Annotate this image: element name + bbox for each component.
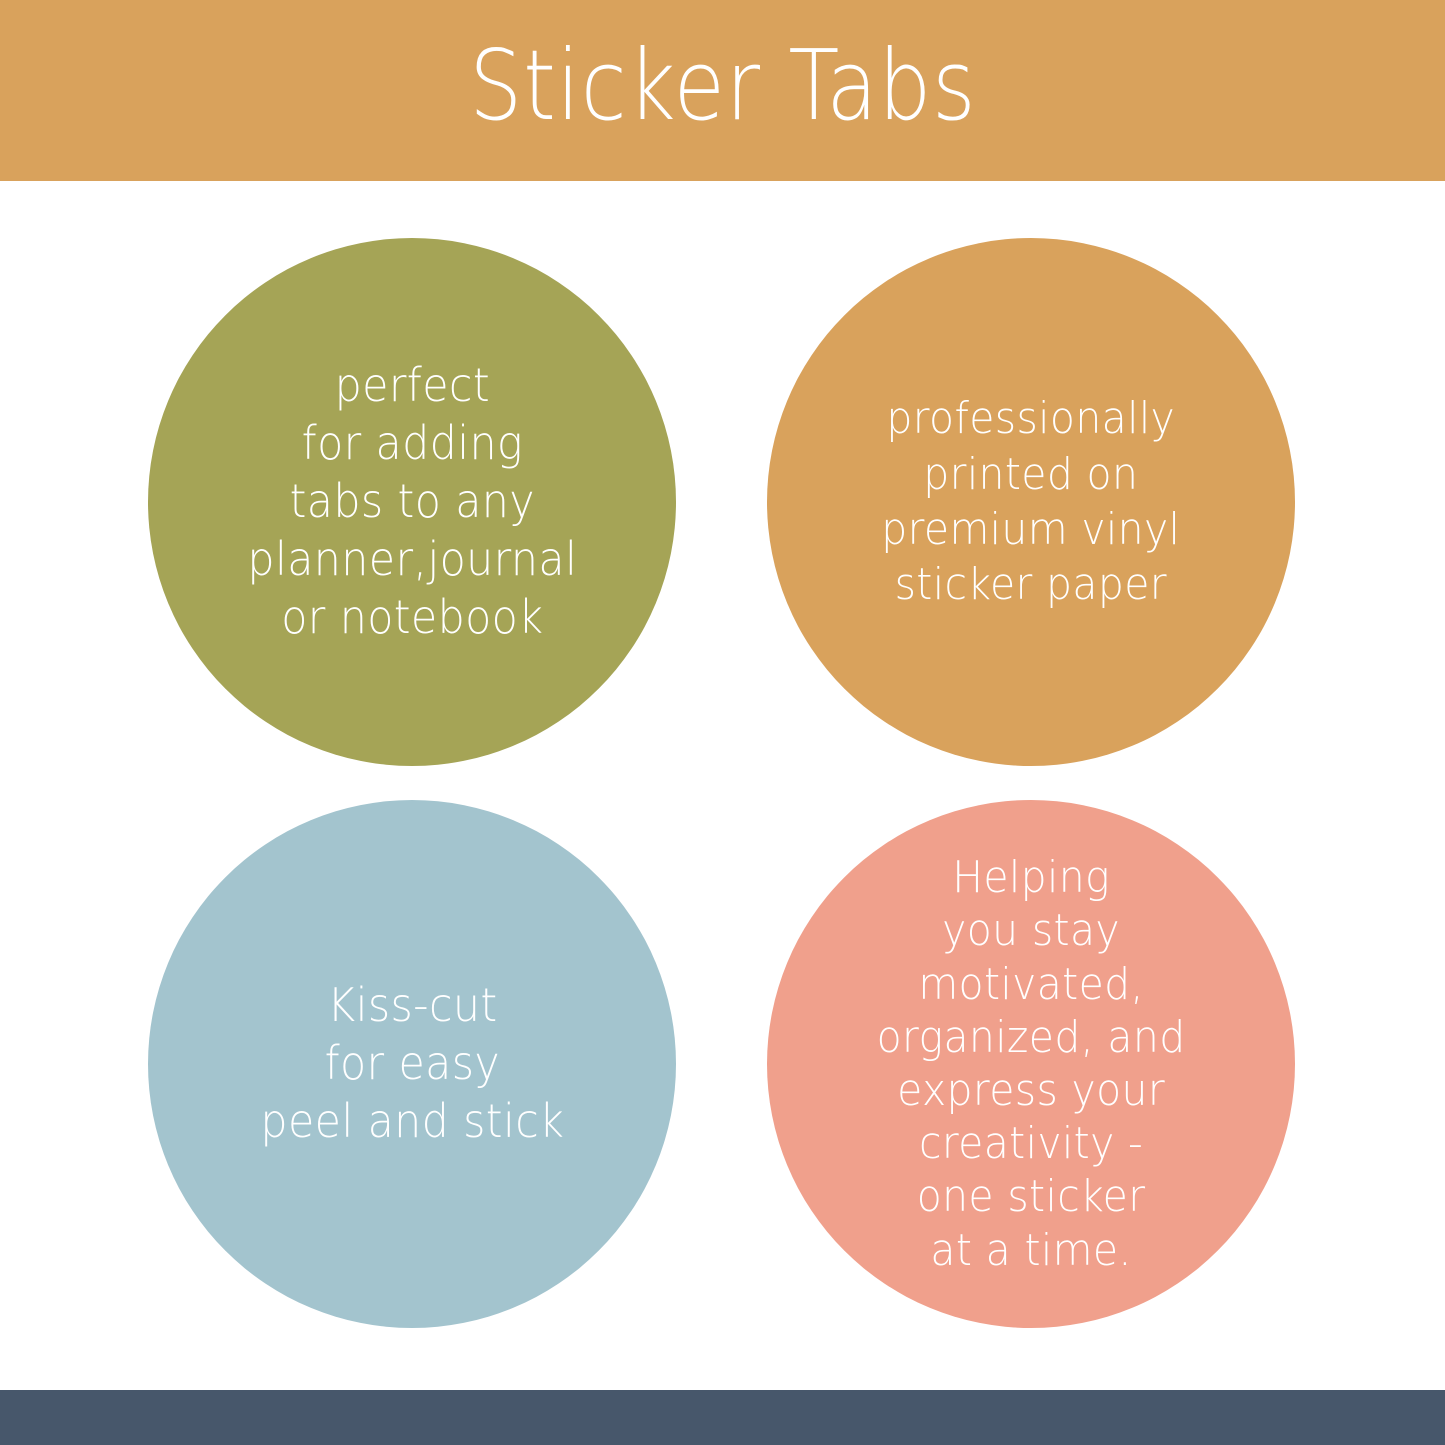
- page-title: Sticker Tabs: [469, 37, 976, 144]
- footer-bar: [0, 1390, 1445, 1445]
- feature-circle-helping-you-stay-motivated: Helping you stay motivated, organized, a…: [767, 800, 1295, 1328]
- header-banner: Sticker Tabs: [0, 0, 1445, 181]
- feature-circle-kiss-cut-peel-and-stick: Kiss-cut for easy peel and stick: [148, 800, 676, 1328]
- feature-circle-perfect-for-adding-tabs: perfect for adding tabs to any planner,j…: [148, 238, 676, 766]
- feature-circle-text: Kiss-cut for easy peel and stick: [260, 977, 564, 1151]
- sticker-tabs-product-graphic: Sticker Tabs perfect for adding tabs to …: [0, 0, 1445, 1445]
- feature-circle-text: Helping you stay motivated, organized, a…: [877, 851, 1186, 1277]
- feature-circle-grid: perfect for adding tabs to any planner,j…: [0, 181, 1445, 1390]
- feature-circle-text: perfect for adding tabs to any planner,j…: [247, 357, 577, 647]
- feature-circle-text: professionally printed on premium vinyl …: [881, 391, 1180, 613]
- feature-circle-professionally-printed: professionally printed on premium vinyl …: [767, 238, 1295, 766]
